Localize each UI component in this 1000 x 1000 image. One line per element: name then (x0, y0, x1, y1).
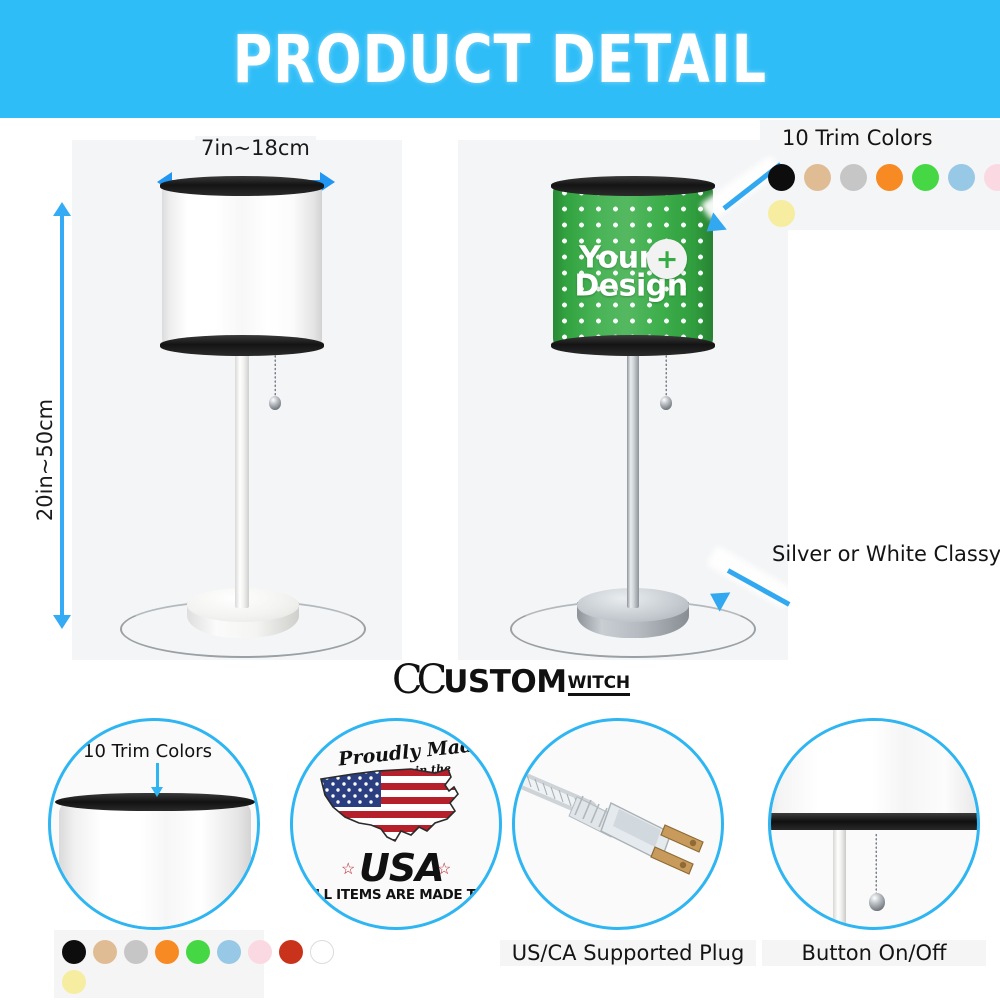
usa-star-right-icon: ☆ (437, 859, 451, 879)
trim-swatch-row-secondary (768, 200, 795, 227)
left-lamp-shade (162, 183, 322, 348)
feature-switch-pole (833, 830, 846, 930)
feature-shade-body (59, 803, 251, 930)
feature-plug: US/CA Supported Plug (512, 718, 742, 998)
feature-plug-circle (512, 718, 724, 930)
logo-secondary-text: WITCH (568, 675, 630, 696)
trim-swatch-white[interactable] (310, 940, 334, 964)
trim-swatch-gray[interactable] (840, 164, 867, 191)
usa-badge-word: USA (359, 846, 444, 890)
brand-logo: C C USTOM WITCH (392, 662, 630, 698)
feature-switch-caption: Button On/Off (762, 940, 986, 966)
trim-swatch-orange[interactable] (876, 164, 903, 191)
right-lamp-trim-bottom (551, 335, 715, 356)
usa-badge-subtext: ALL ITEMS ARE MADE TO ORDER! (305, 887, 502, 903)
trim-swatch-tan[interactable] (93, 940, 117, 964)
feature-made-in-usa: Proudly Made in the (290, 718, 510, 938)
logo-primary-text: USTOM (443, 667, 566, 698)
right-lamp-pull-bead[interactable] (660, 396, 672, 410)
feature-trim-swatch-row-primary (62, 940, 334, 964)
page-header-banner: PRODUCT DETAIL (0, 0, 1000, 118)
trim-swatch-tan[interactable] (804, 164, 831, 191)
trim-colors-title: 10 Trim Colors (778, 126, 937, 150)
trim-swatch-pink[interactable] (984, 164, 1000, 191)
trim-swatch-yellow[interactable] (62, 970, 86, 994)
left-lamp-pull-bead[interactable] (269, 396, 281, 410)
logo-c-mark: C (392, 662, 417, 698)
feature-trim-swatch-row-secondary (62, 970, 86, 994)
feature-plug-caption: US/CA Supported Plug (500, 940, 756, 966)
feature-trim-colors-inner-label: 10 Trim Colors (83, 741, 212, 762)
feature-switch-shade-trim (768, 813, 980, 830)
trim-swatch-light-blue[interactable] (217, 940, 241, 964)
power-plug-icon (515, 757, 724, 907)
base-callout-arrowhead (705, 584, 731, 611)
feature-trim-colors-circle: 10 Trim Colors (48, 718, 260, 930)
trim-swatch-black[interactable] (62, 940, 86, 964)
left-lamp-trim-top (160, 176, 324, 196)
trim-swatch-green[interactable] (186, 940, 210, 964)
trim-swatch-black[interactable] (768, 164, 795, 191)
trim-swatch-red[interactable] (279, 940, 303, 964)
feature-trim-arrow-line (156, 763, 159, 789)
main-product-stage: 7in~18cm 20in~50cm (0, 118, 1000, 663)
add-design-plus-icon[interactable]: + (647, 239, 687, 279)
right-lamp-pole (627, 346, 639, 608)
usa-star-left-icon: ☆ (341, 859, 355, 879)
left-lamp (120, 158, 380, 658)
left-lamp-trim-bottom (160, 335, 324, 356)
plus-glyph: + (656, 246, 679, 273)
feature-switch-pull-chain (875, 833, 877, 895)
feature-switch: Button On/Off (768, 718, 988, 998)
trim-swatch-green[interactable] (912, 164, 939, 191)
feature-switch-shade-body (768, 721, 980, 813)
polka-dot-pattern (553, 183, 713, 348)
trim-swatch-row-primary (768, 164, 1000, 191)
feature-trim-colors: 10 Trim Colors (48, 718, 268, 998)
height-arrow-top-head (53, 202, 71, 216)
width-dimension-label: 7in~18cm (195, 136, 316, 160)
trim-swatch-orange[interactable] (155, 940, 179, 964)
logo-c-mark-inner: C (417, 662, 442, 698)
product-detail-page: PRODUCT DETAIL 7in~18cm 20in~50cm (0, 0, 1000, 1000)
height-arrow-bottom-head (53, 615, 71, 629)
base-finish-callout-label: Silver or White Classy (772, 542, 1000, 566)
feature-made-in-usa-circle: Proudly Made in the (290, 718, 502, 930)
feature-switch-pull-bead[interactable] (869, 893, 885, 911)
height-dimension-line (60, 215, 64, 615)
trim-swatch-gray[interactable] (124, 940, 148, 964)
feature-switch-chain-beads (875, 833, 877, 895)
left-lamp-shade-surface (162, 183, 322, 348)
feature-switch-circle (768, 718, 980, 930)
trim-swatch-pink[interactable] (248, 940, 272, 964)
right-lamp-shade-surface (553, 183, 713, 348)
height-dimension-label: 20in~50cm (33, 395, 57, 525)
feature-trim-arrow-head (151, 787, 163, 797)
trim-swatch-light-blue[interactable] (948, 164, 975, 191)
trim-swatch-yellow[interactable] (768, 200, 795, 227)
page-title: PRODUCT DETAIL (233, 21, 767, 98)
right-lamp-shade: Your Design + (553, 183, 713, 348)
left-lamp-pole (235, 346, 249, 608)
